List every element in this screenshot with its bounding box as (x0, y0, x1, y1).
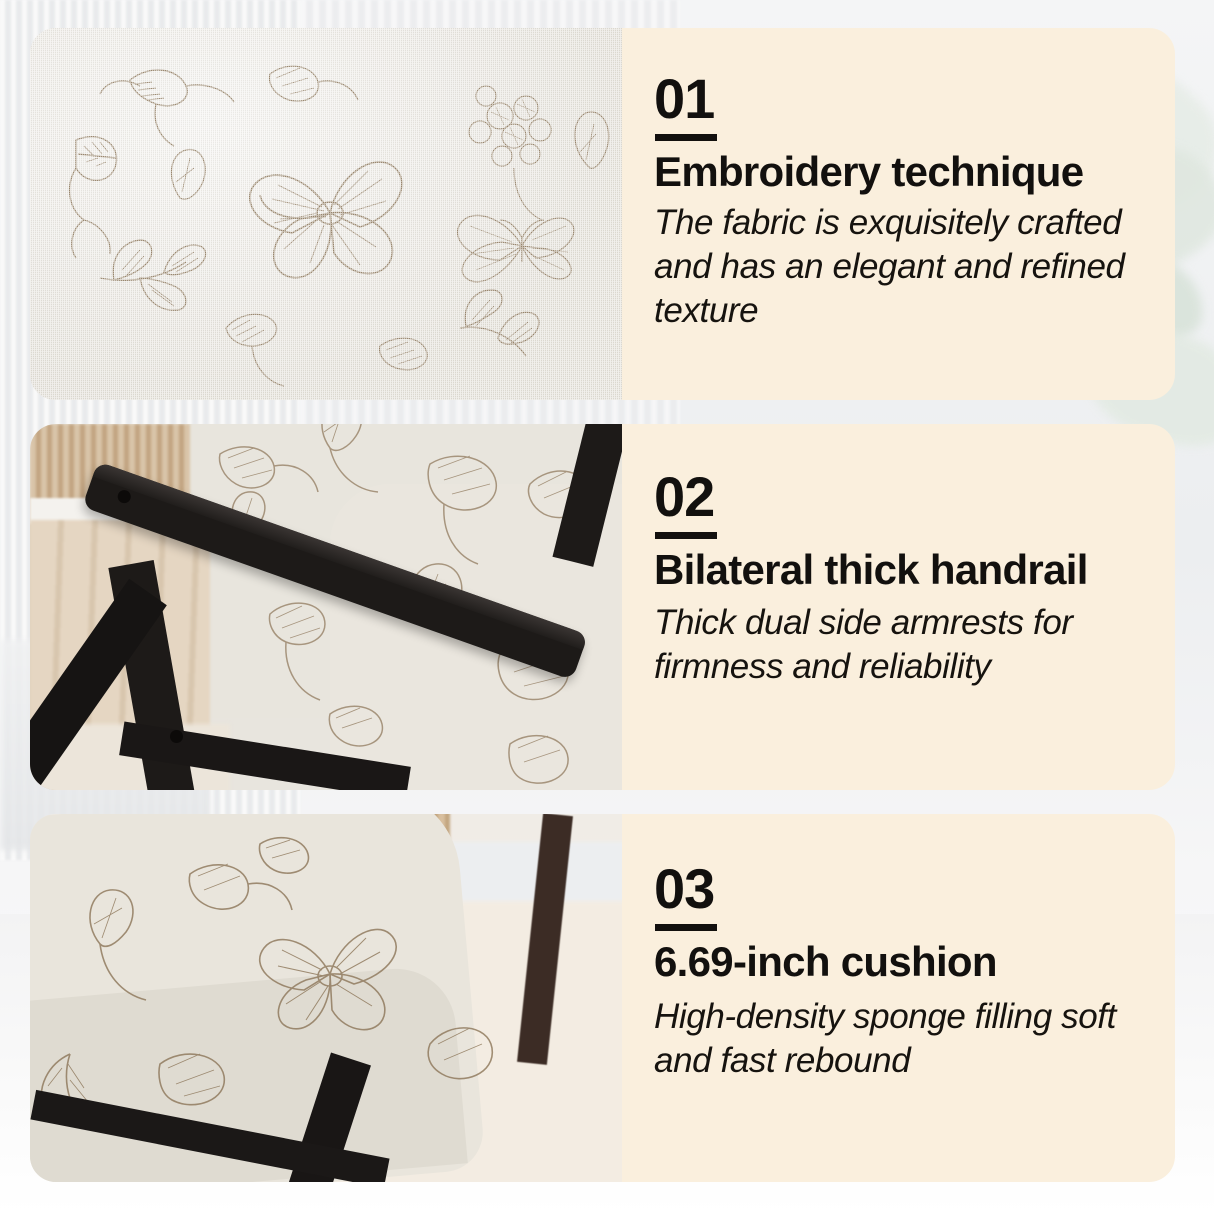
brace-screw-icon (170, 730, 183, 743)
feature-row-01: 01 Embroidery technique The fabric is ex… (30, 28, 1175, 400)
feature-description: High-density sponge filling soft and fas… (654, 995, 1145, 1083)
feature-title: Embroidery technique (654, 149, 1145, 194)
fabric-weave-texture (30, 28, 622, 400)
armrest-screw-icon (116, 488, 133, 505)
feature-description: Thick dual side armrests for firmness an… (654, 601, 1145, 689)
feature-row-02: 02 Bilateral thick handrail Thick dual s… (30, 424, 1175, 790)
feature-title: Bilateral thick handrail (654, 547, 1145, 592)
feature-title: 6.69-inch cushion (654, 939, 1145, 984)
feature-number: 01 (654, 74, 1145, 124)
feature-text-panel-02: 02 Bilateral thick handrail Thick dual s… (622, 424, 1175, 790)
feature-photo-cushion (30, 814, 622, 1182)
number-underline (655, 924, 717, 931)
feature-photo-handrail (30, 424, 622, 790)
feature-photo-embroidery (30, 28, 622, 400)
feature-number: 03 (654, 864, 1145, 914)
feature-description: The fabric is exquisitely crafted and ha… (654, 201, 1145, 333)
feature-number: 02 (654, 472, 1145, 522)
feature-text-panel-01: 01 Embroidery technique The fabric is ex… (622, 28, 1175, 400)
number-underline (655, 532, 717, 539)
feature-text-panel-03: 03 6.69-inch cushion High-density sponge… (622, 814, 1175, 1182)
feature-row-03: 03 6.69-inch cushion High-density sponge… (30, 814, 1175, 1182)
number-underline (655, 134, 717, 141)
